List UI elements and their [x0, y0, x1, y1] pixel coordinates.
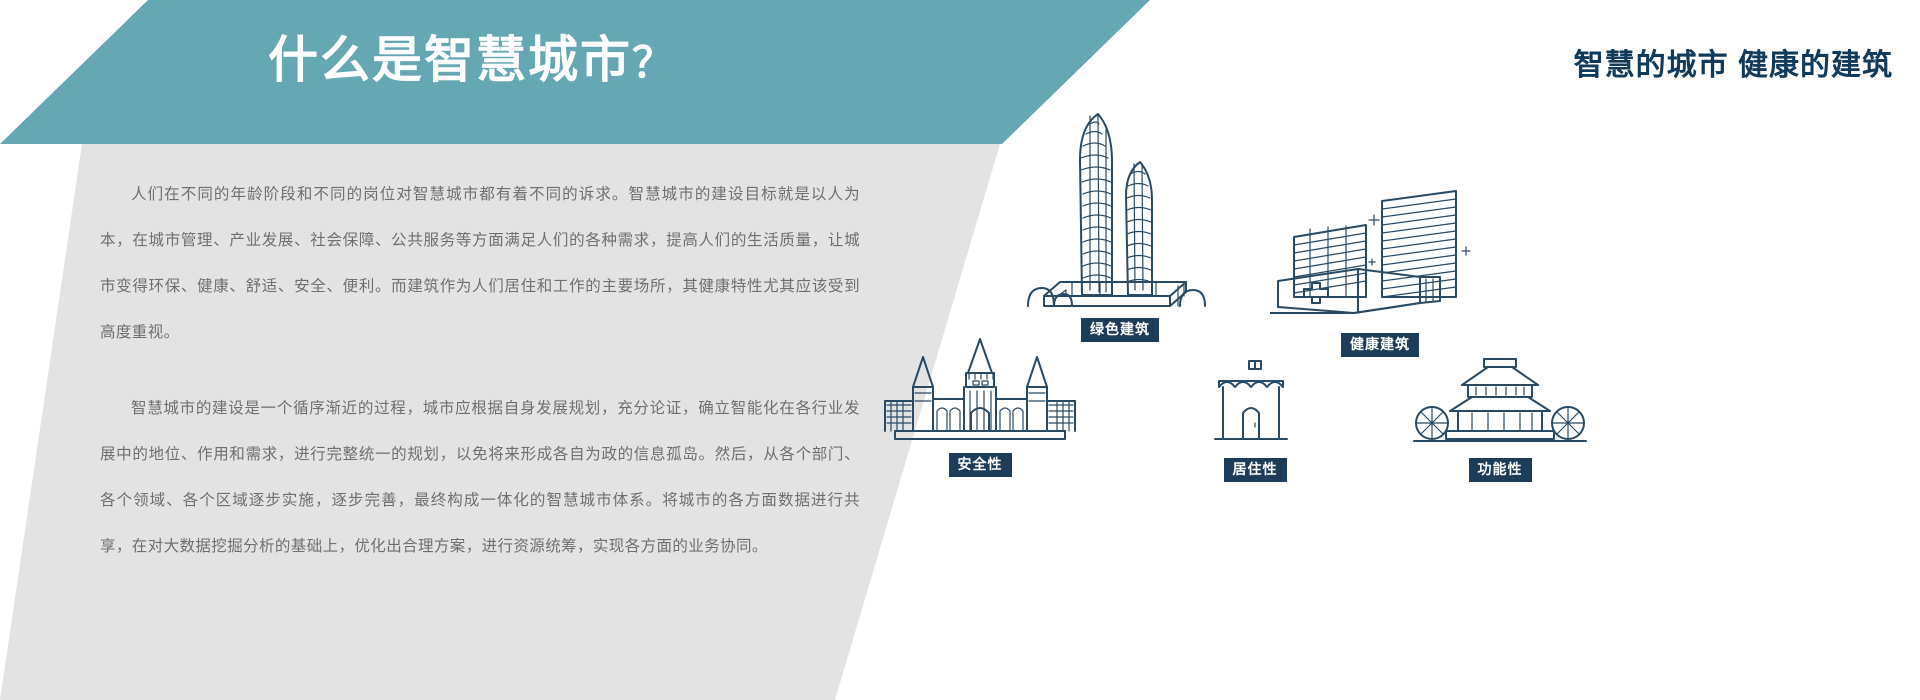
- icon-cell-safety[interactable]: 安全性: [840, 335, 1120, 477]
- page-title-question-mark: ？: [632, 39, 676, 86]
- icon-gallery: 绿色建筑: [840, 90, 1920, 690]
- icon-cell-functionality[interactable]: 功能性: [1370, 355, 1630, 482]
- page-title-text: 什么是智慧城市: [268, 32, 632, 88]
- icon-cell-green-building[interactable]: 绿色建筑: [990, 100, 1250, 342]
- icon-label-functionality: 功能性: [1469, 458, 1532, 482]
- icon-cell-livability[interactable]: 居住性: [1140, 355, 1370, 482]
- page-title: 什么是智慧城市？: [268, 30, 676, 90]
- icon-label-health-building: 健康建筑: [1341, 333, 1419, 357]
- hospital-building-icon: [1270, 185, 1490, 325]
- right-headline: 智慧的城市 健康的建筑: [1574, 40, 1893, 84]
- house-tent-icon: [1195, 355, 1315, 450]
- icon-label-livability: 居住性: [1224, 458, 1287, 482]
- pavilion-icon: [1410, 355, 1590, 450]
- icon-label-safety: 安全性: [949, 453, 1012, 477]
- castle-icon: [865, 335, 1095, 445]
- body-copy: 人们在不同的年龄阶段和不同的岗位对智慧城市都有着不同的诉求。智慧城市的建设目标就…: [100, 172, 860, 570]
- body-paragraph-1: 人们在不同的年龄阶段和不同的岗位对智慧城市都有着不同的诉求。智慧城市的建设目标就…: [100, 172, 860, 356]
- body-paragraph-2: 智慧城市的建设是一个循序渐近的过程，城市应根据自身发展规划，充分论证，确立智能化…: [100, 386, 860, 570]
- twin-towers-icon: [1020, 100, 1220, 310]
- icon-cell-health-building[interactable]: 健康建筑: [1240, 185, 1520, 357]
